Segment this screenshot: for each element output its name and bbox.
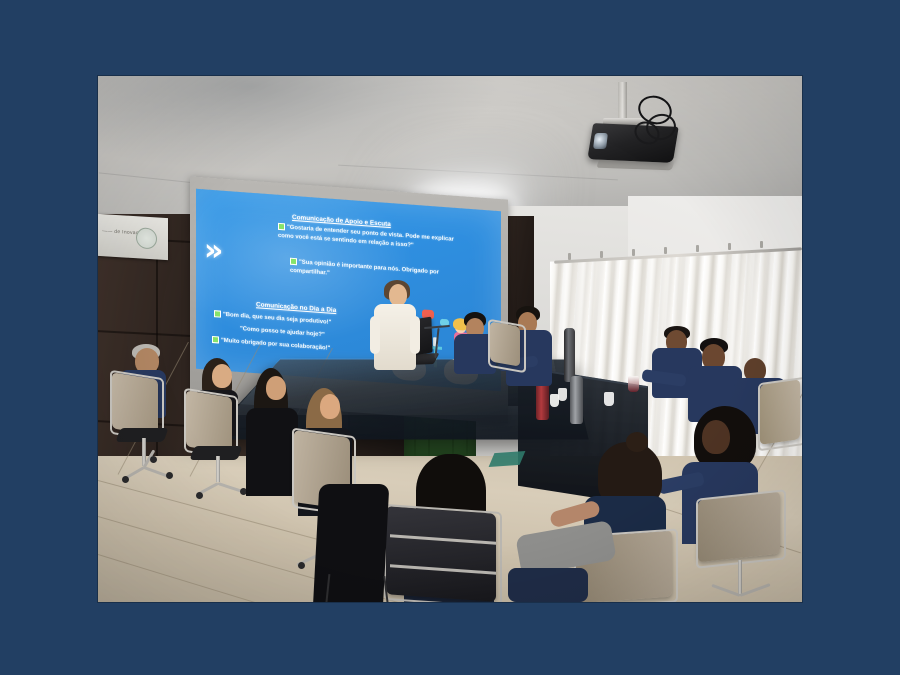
juice-cup[interactable] bbox=[628, 376, 639, 392]
meeting-room-photograph: —— de Inovação bbox=[98, 76, 802, 602]
projector-mount bbox=[618, 82, 627, 122]
screenshot-root: —— de Inovação bbox=[0, 0, 900, 675]
disposable-cup[interactable] bbox=[558, 388, 567, 401]
coffee-thermos[interactable] bbox=[564, 328, 575, 382]
plaque-seal-icon bbox=[136, 227, 157, 249]
checkbox-icon bbox=[278, 222, 285, 230]
checkbox-icon bbox=[290, 257, 297, 265]
chevron-right-icon: » bbox=[204, 235, 219, 266]
coffee-thermos[interactable] bbox=[570, 376, 583, 424]
checkbox-icon bbox=[214, 310, 221, 318]
checkbox-icon bbox=[212, 335, 219, 343]
projector-lens bbox=[593, 133, 608, 149]
disposable-cup[interactable] bbox=[604, 392, 614, 406]
wall-plaque: —— de Inovação bbox=[98, 214, 168, 260]
